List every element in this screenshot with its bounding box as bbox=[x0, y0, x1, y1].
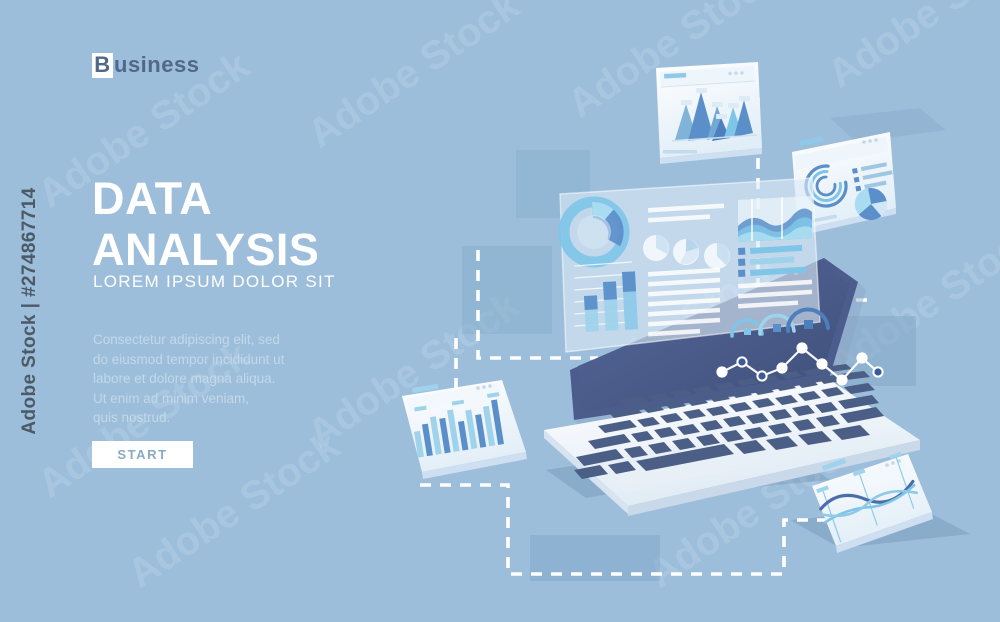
start-button[interactable]: START bbox=[92, 441, 193, 468]
body-copy: Consectetur adipiscing elit, sed do eius… bbox=[93, 330, 338, 428]
watermark-left-bar: Adobe Stock | #274867714 bbox=[0, 0, 26, 622]
watermark-vertical: Adobe Stock | #274867714 bbox=[19, 76, 41, 546]
brand-initial: B bbox=[92, 53, 113, 78]
illustration-svg bbox=[360, 0, 1000, 622]
peaks-card[interactable] bbox=[656, 62, 762, 164]
page-subtitle: LOREM IPSUM DOLOR SIT bbox=[93, 272, 336, 292]
brand-rest: usiness bbox=[114, 52, 199, 78]
illustration bbox=[360, 0, 1000, 622]
page-title: DATA ANALYSIS bbox=[92, 173, 319, 275]
dashboard-area-chart bbox=[738, 196, 812, 242]
bars-card[interactable] bbox=[402, 380, 527, 479]
poster-canvas: Adobe Stock Adobe Stock Adobe Stock Adob… bbox=[0, 0, 1000, 622]
brand-logo: Business bbox=[92, 52, 199, 78]
rings-card-url-bar bbox=[799, 136, 824, 145]
